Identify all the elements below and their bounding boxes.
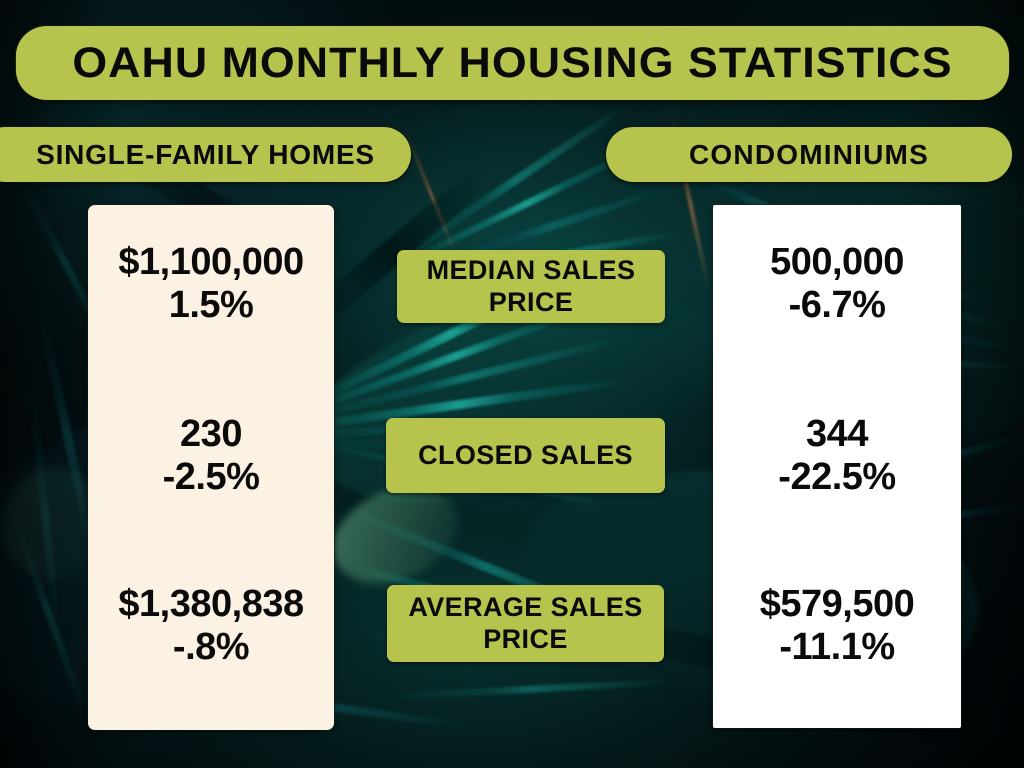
metric-change: -6.7% — [713, 284, 961, 327]
metric-value: $1,380,838 — [88, 583, 334, 626]
column-heading-label: CONDOMINIUMS — [689, 139, 929, 171]
metric-median-sales-price: $1,100,000 1.5% — [88, 241, 334, 326]
page-title-banner: OAHU MONTHLY HOUSING STATISTICS — [16, 26, 1009, 100]
metric-average-sales-price: $579,500 -11.1% — [713, 583, 961, 668]
metric-value: $579,500 — [713, 583, 961, 626]
metric-change: -2.5% — [88, 456, 334, 499]
metric-change: -11.1% — [713, 626, 961, 669]
metric-average-sales-price: $1,380,838 -.8% — [88, 583, 334, 668]
metric-change: -22.5% — [713, 456, 961, 499]
metric-value: 230 — [88, 413, 334, 456]
metric-closed-sales: 344 -22.5% — [713, 413, 961, 498]
center-label-text: AVERAGE SALES PRICE — [387, 592, 664, 654]
metric-median-sales-price: 500,000 -6.7% — [713, 241, 961, 326]
column-heading-condominiums: CONDOMINIUMS — [606, 127, 1012, 182]
data-panel-single-family: $1,100,000 1.5% 230 -2.5% $1,380,838 -.8… — [88, 205, 334, 730]
metric-value: 344 — [713, 413, 961, 456]
center-label-closed-sales: CLOSED SALES — [386, 418, 665, 493]
page-title: OAHU MONTHLY HOUSING STATISTICS — [72, 39, 952, 88]
metric-value: $1,100,000 — [88, 241, 334, 284]
metric-value: 500,000 — [713, 241, 961, 284]
metric-change: -.8% — [88, 626, 334, 669]
column-heading-label: SINGLE-FAMILY HOMES — [36, 139, 375, 171]
column-heading-single-family: SINGLE-FAMILY HOMES — [0, 127, 411, 182]
metric-closed-sales: 230 -2.5% — [88, 413, 334, 498]
center-label-text: CLOSED SALES — [418, 440, 633, 471]
data-panel-condominiums: 500,000 -6.7% 344 -22.5% $579,500 -11.1% — [713, 205, 961, 728]
content-layer: OAHU MONTHLY HOUSING STATISTICS SINGLE-F… — [0, 0, 1024, 768]
metric-change: 1.5% — [88, 284, 334, 327]
infographic-canvas: OAHU MONTHLY HOUSING STATISTICS SINGLE-F… — [0, 0, 1024, 768]
center-label-median-sales-price: MEDIAN SALES PRICE — [397, 250, 665, 323]
center-label-average-sales-price: AVERAGE SALES PRICE — [387, 585, 664, 662]
center-label-text: MEDIAN SALES PRICE — [397, 255, 665, 317]
